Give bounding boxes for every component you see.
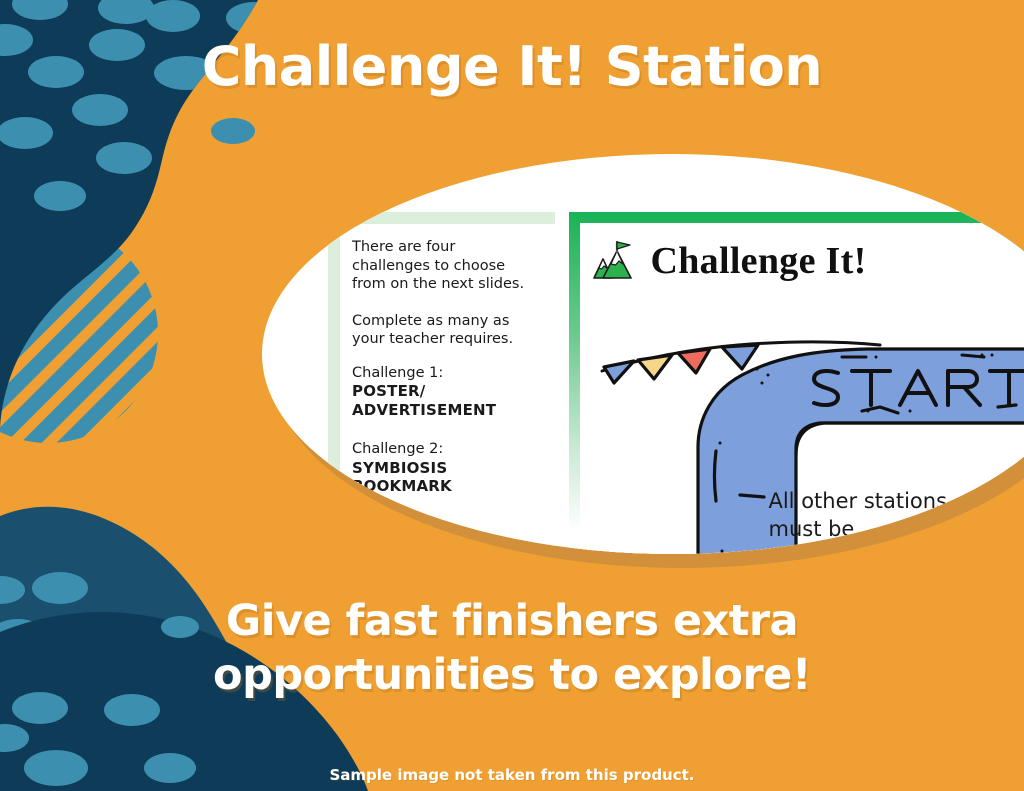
start-arch-illustration: All other stations must be — [580, 315, 1024, 554]
arch-blurb-line1: All other stations — [768, 489, 947, 513]
slide-screenshot: There are four challenges to choose from… — [328, 212, 1024, 554]
challenge-item: Challenge 2: SYMBIOSIS BOOKMARK — [352, 440, 545, 496]
challenge-item: Challenge 1: POSTER/ ADVERTISEMENT — [352, 364, 545, 420]
directions-lead2: Complete as many as your teacher require… — [352, 312, 545, 349]
challenge-label: Challenge 3: — [352, 517, 545, 536]
challenge-name-line1: STEM — [352, 535, 545, 554]
challenge-heading-text: Challenge It! — [650, 239, 866, 283]
directions-panel: There are four challenges to choose from… — [328, 212, 555, 554]
directions-lead-line3: from on the next slides. — [352, 276, 524, 292]
challenge-panel: Challenge It! — [569, 212, 1024, 554]
subheadline-line2: opportunities to explore! — [0, 648, 1024, 702]
challenge-label: Challenge 1: — [352, 364, 545, 383]
challenge-panel-inner: Challenge It! — [580, 223, 1024, 554]
directions-lead2-line2: your teacher requires. — [352, 331, 513, 347]
directions-lead2-line1: Complete as many as — [352, 313, 509, 329]
subheadline-line1: Give fast finishers extra — [0, 594, 1024, 648]
challenge-name-line2: BOOKMARK — [352, 477, 545, 496]
directions-lead-line1: There are four — [352, 239, 455, 255]
challenge-heading-row: Challenge It! — [580, 223, 1024, 283]
page-title: Challenge It! Station — [0, 36, 1024, 98]
directions-lead-line2: challenges to choose — [352, 258, 505, 274]
challenge-name-line1: POSTER/ — [352, 382, 545, 401]
challenge-label: Challenge 2: — [352, 440, 545, 459]
arch-blurb-line2: must be — [768, 517, 854, 541]
mountain-flag-icon — [590, 240, 636, 282]
subheadline: Give fast finishers extra opportunities … — [0, 594, 1024, 702]
footnote-text: Sample image not taken from this product… — [0, 766, 1024, 784]
challenge-name-line2: ADVERTISEMENT — [352, 401, 545, 420]
navy-blob-top-left-dots — [0, 0, 282, 211]
oval-image-frame: There are four challenges to choose from… — [262, 154, 1024, 554]
floating-dots — [161, 118, 255, 638]
challenge-panel-border: Challenge It! — [569, 212, 1024, 554]
arch-blurb: All other stations must be — [768, 487, 1018, 543]
directions-lead: There are four challenges to choose from… — [352, 238, 545, 294]
challenge-item: Challenge 3: STEM — [352, 517, 545, 554]
poster-canvas: Challenge It! Station There are four cha… — [0, 0, 1024, 791]
challenge-name-line1: SYMBIOSIS — [352, 459, 545, 478]
